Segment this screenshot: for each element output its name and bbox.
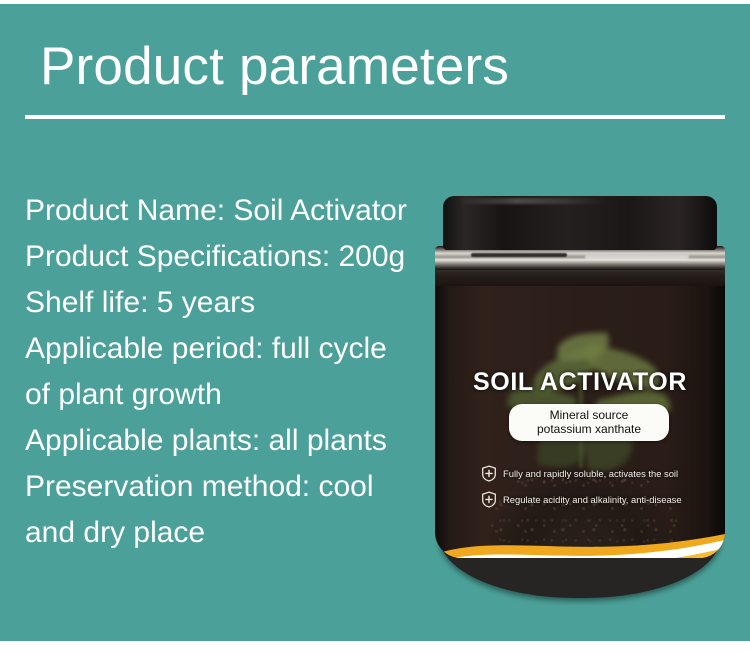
jar-feature-list: Fully and rapidly soluble, activates the… [481, 465, 697, 517]
mineral-source-label: Mineral source potassium xanthate [509, 404, 669, 441]
spec-line: Applicable plants: all plants [25, 418, 425, 464]
spec-line: Product Name: Soil Activator [25, 188, 425, 234]
jar-body: SOIL ACTIVATOR Mineral source potassium … [435, 252, 725, 558]
source-label-line1: Mineral source [517, 408, 661, 422]
product-parameters-page: Product parameters Product Name: Soil Ac… [0, 0, 750, 652]
jar-feature-item: Regulate acidity and alkalinity, anti-di… [481, 491, 697, 508]
title-divider [25, 115, 725, 119]
spec-line: and dry place [25, 510, 425, 556]
rim-shadow-streak [471, 253, 567, 257]
shield-plus-icon [481, 465, 497, 482]
shield-plus-icon [481, 491, 497, 508]
spec-line: Shelf life: 5 years [25, 280, 425, 326]
teal-panel: Product parameters Product Name: Soil Ac… [0, 4, 750, 641]
spec-line: of plant growth [25, 372, 425, 418]
rim-highlight [585, 255, 689, 259]
lid-highlight [457, 198, 607, 204]
page-title: Product parameters [40, 38, 509, 96]
jar-brand-name: SOIL ACTIVATOR [435, 368, 725, 396]
spec-line: Product Specifications: 200g [25, 234, 425, 280]
jar-feature-item: Fully and rapidly soluble, activates the… [481, 465, 697, 482]
specification-list: Product Name: Soil Activator Product Spe… [25, 188, 425, 556]
jar-feature-text: Fully and rapidly soluble, activates the… [503, 468, 678, 479]
wave-band-graphic [435, 528, 725, 558]
source-label-line2: potassium xanthate [517, 422, 661, 436]
jar-feature-text: Regulate acidity and alkalinity, anti-di… [503, 494, 682, 505]
spec-line: Preservation method: cool [25, 464, 425, 510]
jar-lid [443, 196, 717, 250]
product-jar-image: SOIL ACTIVATOR Mineral source potassium … [433, 196, 727, 600]
spec-line: Applicable period: full cycle [25, 326, 425, 372]
